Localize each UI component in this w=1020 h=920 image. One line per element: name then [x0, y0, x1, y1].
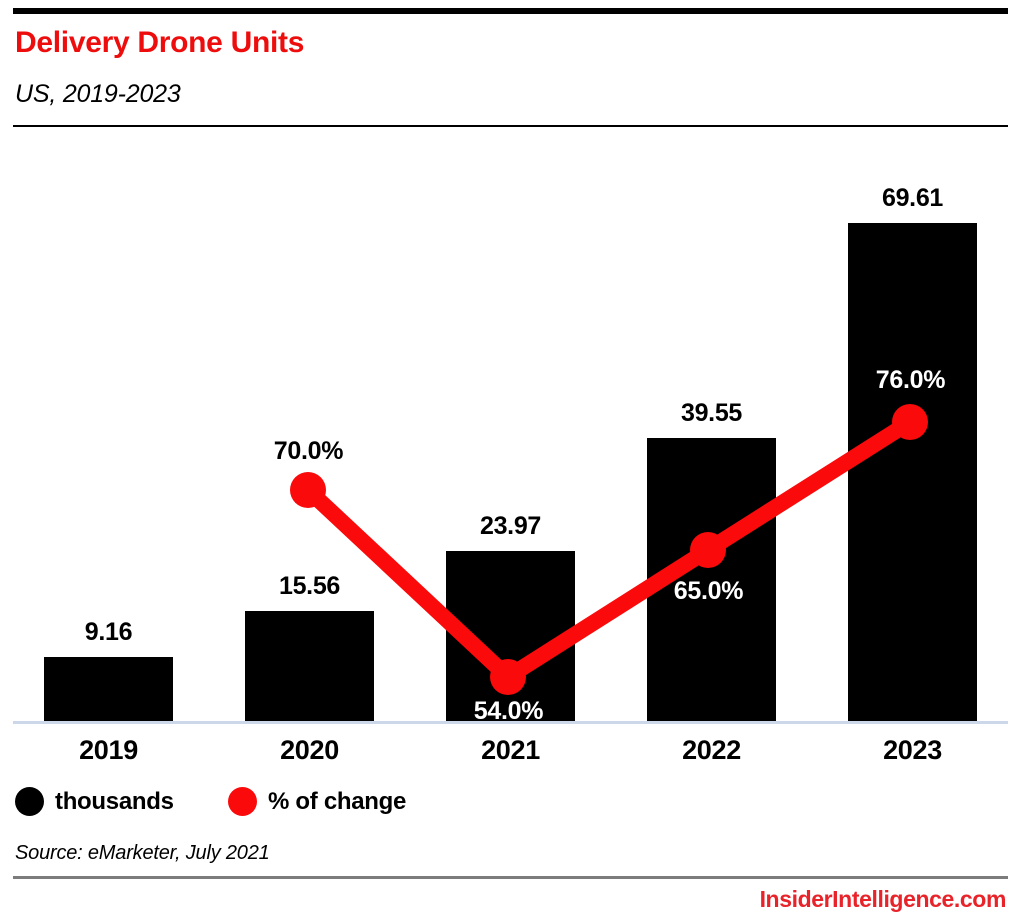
- chart-page: Delivery Drone Units US, 2019-2023 9.16 …: [0, 0, 1020, 920]
- legend-circle-icon-thousands: [15, 787, 44, 816]
- point-value-2022: 65.0%: [644, 577, 773, 606]
- legend-item-percent-change[interactable]: % of change: [228, 787, 406, 816]
- point-value-2020: 70.0%: [244, 437, 373, 466]
- x-tick-2019: 2019: [44, 735, 173, 766]
- point-value-2023: 76.0%: [846, 366, 975, 395]
- x-tick-2023: 2023: [848, 735, 977, 766]
- footer-divider: [13, 876, 1008, 879]
- x-tick-2021: 2021: [446, 735, 575, 766]
- legend-label-thousands: thousands: [55, 788, 174, 816]
- x-tick-2020: 2020: [245, 735, 374, 766]
- brand-link[interactable]: InsiderIntelligence.com: [760, 886, 1006, 913]
- legend-circle-icon-percent-change: [228, 787, 257, 816]
- point-value-2021: 54.0%: [444, 697, 573, 726]
- chart-plot-area: 9.16 15.56 23.97 39.55 69.61 70.0% 54.0%…: [0, 0, 1020, 760]
- x-tick-2022: 2022: [647, 735, 776, 766]
- legend-label-percent-change: % of change: [268, 788, 406, 816]
- source-note: Source: eMarketer, July 2021: [15, 842, 270, 865]
- legend-item-thousands[interactable]: thousands: [15, 787, 174, 816]
